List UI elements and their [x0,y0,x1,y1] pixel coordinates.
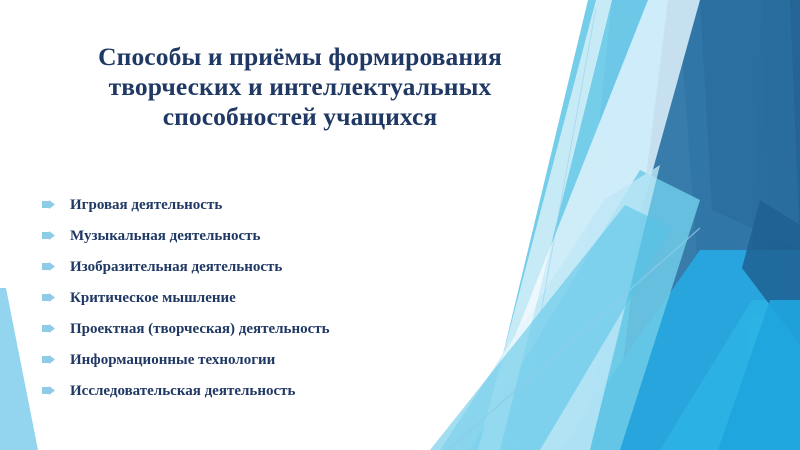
list-item: Критическое мышление [40,282,560,313]
list-item: Изобразительная деятельность [40,251,560,282]
title-line-2: творческих и интеллектуальных [60,72,540,102]
presentation-slide: Способы и приёмы формирования творческих… [0,0,800,450]
list-item-label: Информационные технологии [70,351,275,369]
title-line-3: способностей учащихся [60,102,540,132]
corner-accent-shape [0,288,38,450]
list-item: Проектная (творческая) деятельность [40,313,560,344]
list-item-label: Музыкальная деятельность [70,227,260,245]
pennant-arrow-bullet-icon [40,200,70,209]
pennant-arrow-bullet-icon [40,293,70,302]
list-item-label: Проектная (творческая) деятельность [70,320,330,338]
list-item: Исследовательская деятельность [40,375,560,406]
pennant-arrow-bullet-icon [40,262,70,271]
pennant-arrow-bullet-icon [40,231,70,240]
slide-title: Способы и приёмы формирования творческих… [60,42,540,132]
list-item: Информационные технологии [40,344,560,375]
list-item: Игровая деятельность [40,189,560,220]
bullet-list: Игровая деятельность Музыкальная деятель… [40,189,560,406]
list-item-label: Исследовательская деятельность [70,382,295,400]
pennant-arrow-bullet-icon [40,386,70,395]
list-item: Музыкальная деятельность [40,220,560,251]
pennant-arrow-bullet-icon [40,324,70,333]
list-item-label: Изобразительная деятельность [70,258,282,276]
pennant-arrow-bullet-icon [40,355,70,364]
list-item-label: Игровая деятельность [70,196,222,214]
list-item-label: Критическое мышление [70,289,236,307]
title-line-1: Способы и приёмы формирования [60,42,540,72]
